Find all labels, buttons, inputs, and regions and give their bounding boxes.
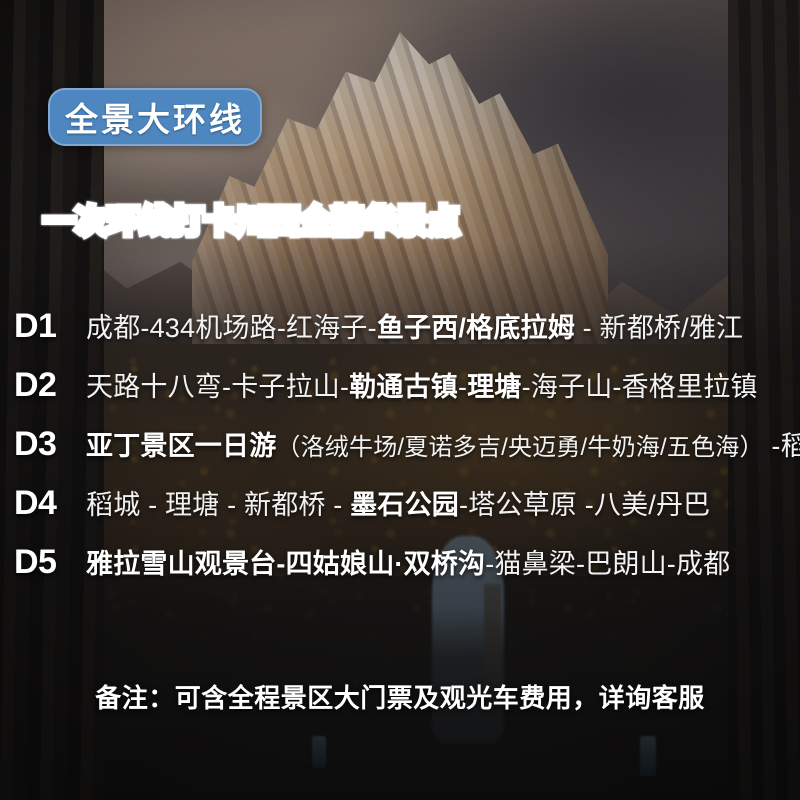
route-segment: -稻城 [764,431,800,461]
route-segment: 墨石公园 [350,490,459,520]
itinerary-row: D4稻城 - 理塘 - 新都桥 - 墨石公园-塔公草原 -八美/丹巴 [14,483,800,542]
route-segment: 稻城 - 理塘 - 新都桥 - [86,490,350,520]
itinerary-row: D2天路十八弯-卡子拉山-勒通古镇-理塘-海子山-香格里拉镇 [14,365,800,424]
subtitle-text: 一次环线打卡川西全精华景点 [44,204,460,239]
route-segment: - 新都桥/雅江 [575,313,743,343]
day-route: 稻城 - 理塘 - 新都桥 - 墨石公园-塔公草原 -八美/丹巴 [86,483,710,522]
itinerary-row: D3亚丁景区一日游（洛绒牛场/夏诺多吉/央迈勇/牛奶海/五色海） -稻城 [14,424,800,483]
route-badge: 全景大环线 [48,88,262,146]
route-badge-label: 全景大环线 [65,93,245,141]
day-label: D1 [14,307,86,346]
route-segment: - [458,372,467,402]
route-segment: -海子山-香格里拉镇 [522,372,758,402]
subtitle: 一次环线打卡川西全精华景点 一次环线打卡川西全精华景点 [44,196,460,241]
day-label: D4 [14,484,86,523]
day-route: 亚丁景区一日游（洛绒牛场/夏诺多吉/央迈勇/牛奶海/五色海） -稻城 [86,424,800,463]
day-route: 天路十八弯-卡子拉山-勒通古镇-理塘-海子山-香格里拉镇 [86,365,758,404]
day-label: D5 [14,543,86,582]
day-label: D3 [14,425,86,464]
poster-content: 全景大环线 一次环线打卡川西全精华景点 一次环线打卡川西全精华景点 D1成都-4… [0,0,800,800]
day-route: 成都-434机场路-红海子-鱼子西/格底拉姆 - 新都桥/雅江 [86,306,743,345]
route-segment: 亚丁景区一日游 [86,431,276,461]
route-segment: -猫鼻梁-巴朗山-成都 [485,549,730,579]
day-label: D2 [14,366,86,405]
day-route: 雅拉雪山观景台-四姑娘山·双桥沟-猫鼻梁-巴朗山-成都 [86,542,730,581]
itinerary-row: D1成都-434机场路-红海子-鱼子西/格底拉姆 - 新都桥/雅江 [14,306,800,365]
route-segment: 鱼子西/格底拉姆 [377,313,575,343]
route-segment: 成都-434机场路-红海子- [86,313,377,343]
travel-itinerary-poster: 全景大环线 一次环线打卡川西全精华景点 一次环线打卡川西全精华景点 D1成都-4… [0,0,800,800]
route-segment: （洛绒牛场/夏诺多吉/央迈勇/牛奶海/五色海） [276,434,763,461]
itinerary-list: D1成都-434机场路-红海子-鱼子西/格底拉姆 - 新都桥/雅江D2天路十八弯… [14,306,800,601]
route-segment: -塔公草原 -八美/丹巴 [459,490,710,520]
footnote: 备注：可含全程景区大门票及观光车费用，详询客服 [0,678,800,715]
route-segment: 雅拉雪山观景台-四姑娘山·双桥沟 [86,549,485,579]
route-segment: 天路十八弯-卡子拉山- [86,372,349,402]
route-segment: 勒通古镇 [349,372,458,402]
route-segment: 理塘 [467,372,521,402]
itinerary-row: D5雅拉雪山观景台-四姑娘山·双桥沟-猫鼻梁-巴朗山-成都 [14,542,800,601]
